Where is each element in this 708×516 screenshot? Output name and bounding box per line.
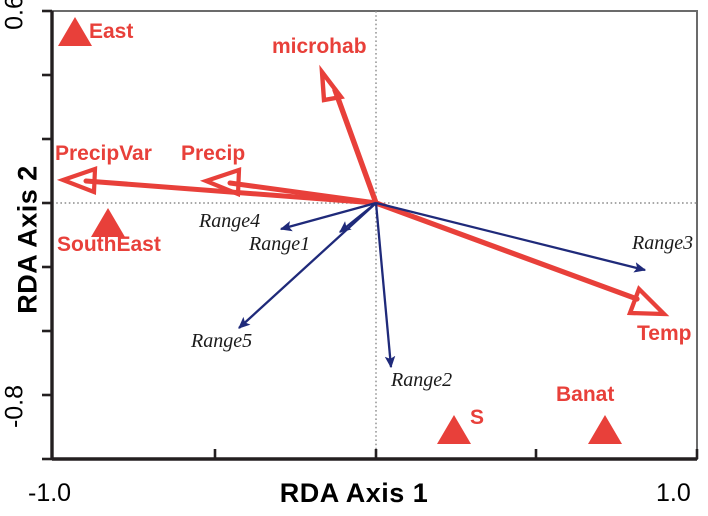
species-vector-range3 [376,203,645,270]
site-marker-group [58,17,622,444]
site-marker-east [58,17,92,46]
site-marker-banat [588,415,622,444]
env-label-microhab: microhab [272,35,367,59]
y-tick-label-max: 0.6 [1,0,30,45]
env-label-temp: Temp [637,322,691,346]
env-label-precip: Precip [181,142,245,166]
env-label-precipvar: PrecipVar [55,142,152,166]
arrowhead-microhab [322,72,341,100]
site-marker-s [437,415,471,444]
site-label-southeast: SouthEast [57,233,161,257]
x-tick-label-min: -1.0 [28,479,71,508]
arrowhead-temp [630,289,664,314]
y-tick-label-min: -0.8 [1,370,30,444]
species-label-range3: Range3 [632,232,693,255]
plot-canvas [0,0,708,516]
y-axis-title: RDA Axis 2 [13,120,44,360]
species-label-range2: Range2 [391,369,452,392]
species-label-range4: Range4 [199,210,260,233]
env-vector-microhab [322,72,376,203]
species-label-range1: Range1 [249,233,310,256]
env-vector-group [63,72,664,314]
x-axis-title: RDA Axis 1 [0,478,708,509]
site-label-banat: Banat [556,383,614,407]
species-vector-range2 [376,203,391,367]
species-label-range5: Range5 [191,330,252,353]
site-label-s: S [470,406,484,430]
x-tick-label-max: 1.0 [656,479,691,508]
site-label-east: East [89,20,133,44]
env-vector-temp [376,203,664,314]
rda-ordination-plot: RDA Axis 1 RDA Axis 2 -1.0 1.0 0.6 -0.8 … [0,0,708,516]
